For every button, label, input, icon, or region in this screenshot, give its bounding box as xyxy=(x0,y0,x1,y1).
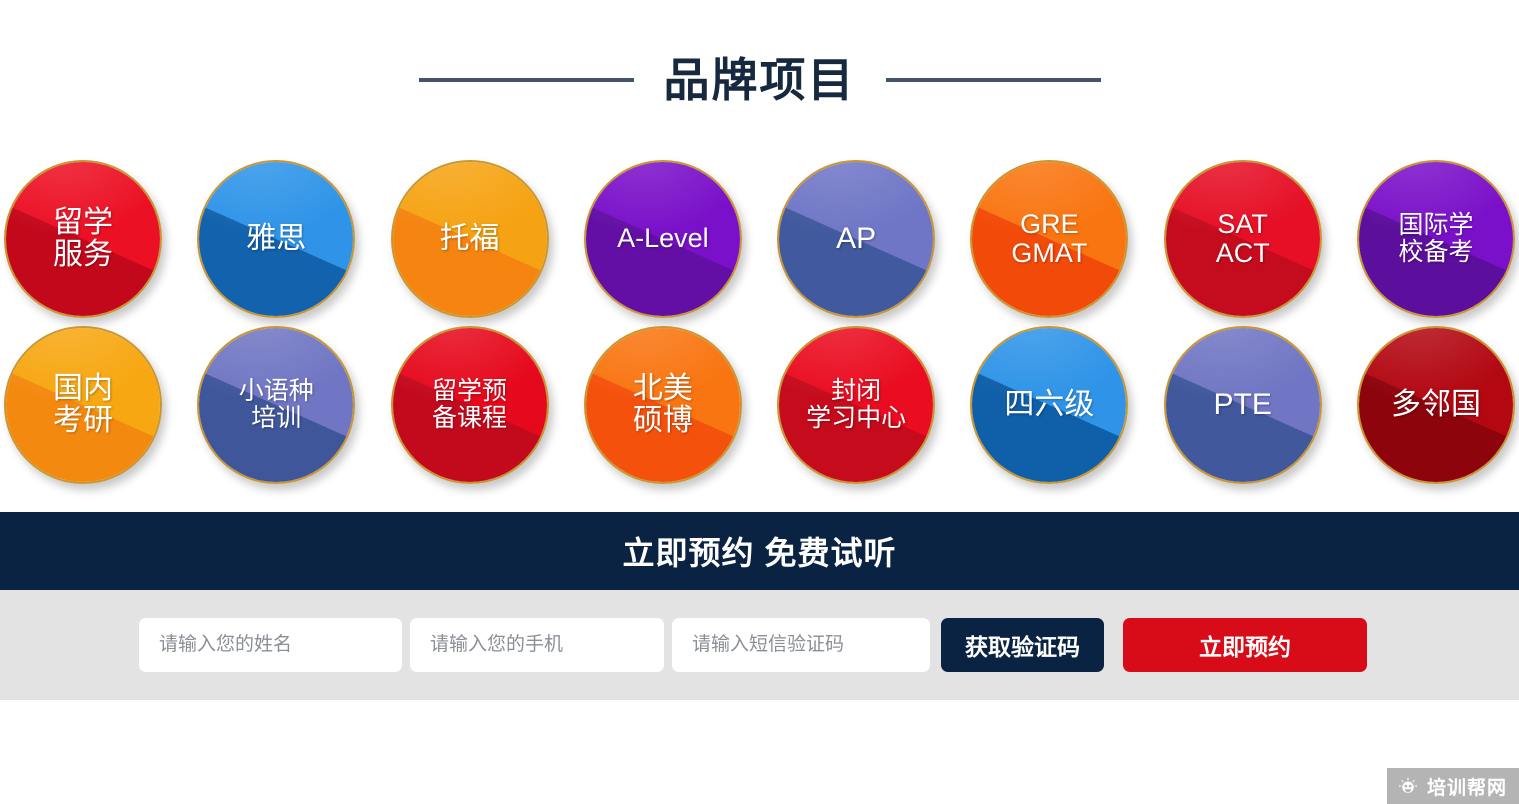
submit-booking-button[interactable]: 立即预约 xyxy=(1123,618,1367,672)
title-rule-left xyxy=(419,78,634,82)
get-verification-code-button[interactable]: 获取验证码 xyxy=(941,618,1104,672)
watermark-text: 培训帮网 xyxy=(1427,773,1507,800)
page-title: 品牌项目 xyxy=(664,57,856,103)
program-grid: 留学服务雅思托福A-LevelAPGREGMATSATACT国际学校备考 国内考… xyxy=(0,160,1519,484)
program-bubble[interactable]: 雅思 xyxy=(197,160,355,318)
program-bubble[interactable]: 留学服务 xyxy=(4,160,162,318)
program-bubble-label: 封闭学习中心 xyxy=(798,378,914,432)
program-bubble-label: A-Level xyxy=(609,224,717,253)
sms-code-input[interactable] xyxy=(672,618,930,672)
program-bubble-label: SATACT xyxy=(1208,210,1278,268)
title-rule-right xyxy=(886,78,1101,82)
program-bubble-label: 小语种培训 xyxy=(231,378,322,432)
section-header: 品牌项目 xyxy=(0,0,1519,160)
program-bubble[interactable]: 北美硕博 xyxy=(584,326,742,484)
program-bubble-label: 四六级 xyxy=(996,389,1102,421)
cta-band: 立即预约 免费试听 xyxy=(0,512,1519,590)
program-bubble[interactable]: 小语种培训 xyxy=(197,326,355,484)
program-bubble[interactable]: 国际学校备考 xyxy=(1357,160,1515,318)
program-bubble[interactable]: 封闭学习中心 xyxy=(777,326,935,484)
program-bubble-label: 留学服务 xyxy=(45,207,121,272)
watermark: 培训帮网 xyxy=(1387,768,1519,804)
program-bubble-label: 国际学校备考 xyxy=(1390,212,1481,266)
program-bubble[interactable]: 留学预备课程 xyxy=(391,326,549,484)
booking-form: 获取验证码 立即预约 xyxy=(0,590,1519,700)
program-bubble-label: 多邻国 xyxy=(1383,389,1489,421)
program-bubble-label: GREGMAT xyxy=(1003,210,1095,268)
program-bubble[interactable]: A-Level xyxy=(584,160,742,318)
program-row-2: 国内考研小语种培训留学预备课程北美硕博封闭学习中心四六级PTE多邻国 xyxy=(0,326,1519,484)
program-bubble-label: 留学预备课程 xyxy=(424,378,515,432)
program-bubble[interactable]: SATACT xyxy=(1164,160,1322,318)
program-bubble-label: 雅思 xyxy=(238,223,314,255)
cta-band-text: 立即预约 免费试听 xyxy=(623,528,897,574)
program-bubble[interactable]: GREGMAT xyxy=(970,160,1128,318)
program-row-1: 留学服务雅思托福A-LevelAPGREGMATSATACT国际学校备考 xyxy=(0,160,1519,318)
program-bubble[interactable]: 四六级 xyxy=(970,326,1128,484)
program-bubble-label: AP xyxy=(828,223,884,255)
program-bubble[interactable]: PTE xyxy=(1164,326,1322,484)
program-bubble-label: 北美硕博 xyxy=(625,373,701,438)
phone-input[interactable] xyxy=(410,618,664,672)
program-bubble[interactable]: 托福 xyxy=(391,160,549,318)
program-bubble-label: PTE xyxy=(1206,389,1280,421)
name-input[interactable] xyxy=(139,618,402,672)
program-bubble[interactable]: 多邻国 xyxy=(1357,326,1515,484)
program-bubble-label: 国内考研 xyxy=(45,373,121,438)
sun-face-icon xyxy=(1397,775,1419,797)
program-bubble[interactable]: AP xyxy=(777,160,935,318)
program-bubble-label: 托福 xyxy=(432,223,508,255)
program-bubble[interactable]: 国内考研 xyxy=(4,326,162,484)
